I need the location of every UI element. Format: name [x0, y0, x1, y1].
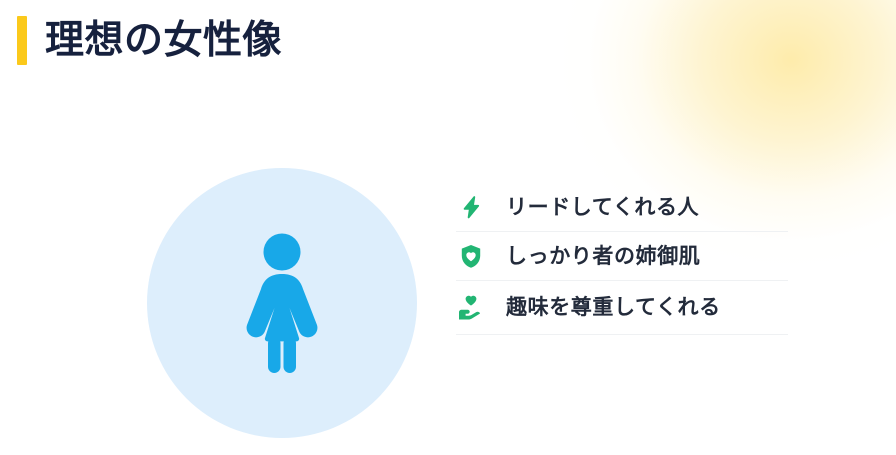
list-item: しっかり者の姉御肌 [456, 232, 788, 281]
page-title: 理想の女性像 [45, 16, 282, 65]
title-accent-bar [17, 16, 27, 65]
list-item-label: リードしてくれる人 [506, 197, 699, 218]
slide-root: 理想の女性像 リードしてくれる人 [0, 0, 896, 455]
feature-list: リードしてくれる人 しっかり者の姉御肌 趣味を尊重してくれる [456, 183, 788, 335]
hand-holding-heart-icon [456, 293, 486, 323]
page-header: 理想の女性像 [17, 16, 282, 65]
female-figure-icon [235, 233, 330, 373]
lightning-bolt-icon [456, 192, 486, 222]
list-item-label: しっかり者の姉御肌 [506, 246, 700, 267]
illustration-container [147, 168, 417, 438]
list-item: 趣味を尊重してくれる [456, 281, 788, 335]
list-item-label: 趣味を尊重してくれる [506, 297, 721, 318]
list-item: リードしてくれる人 [456, 183, 788, 232]
shield-heart-icon [456, 241, 486, 271]
